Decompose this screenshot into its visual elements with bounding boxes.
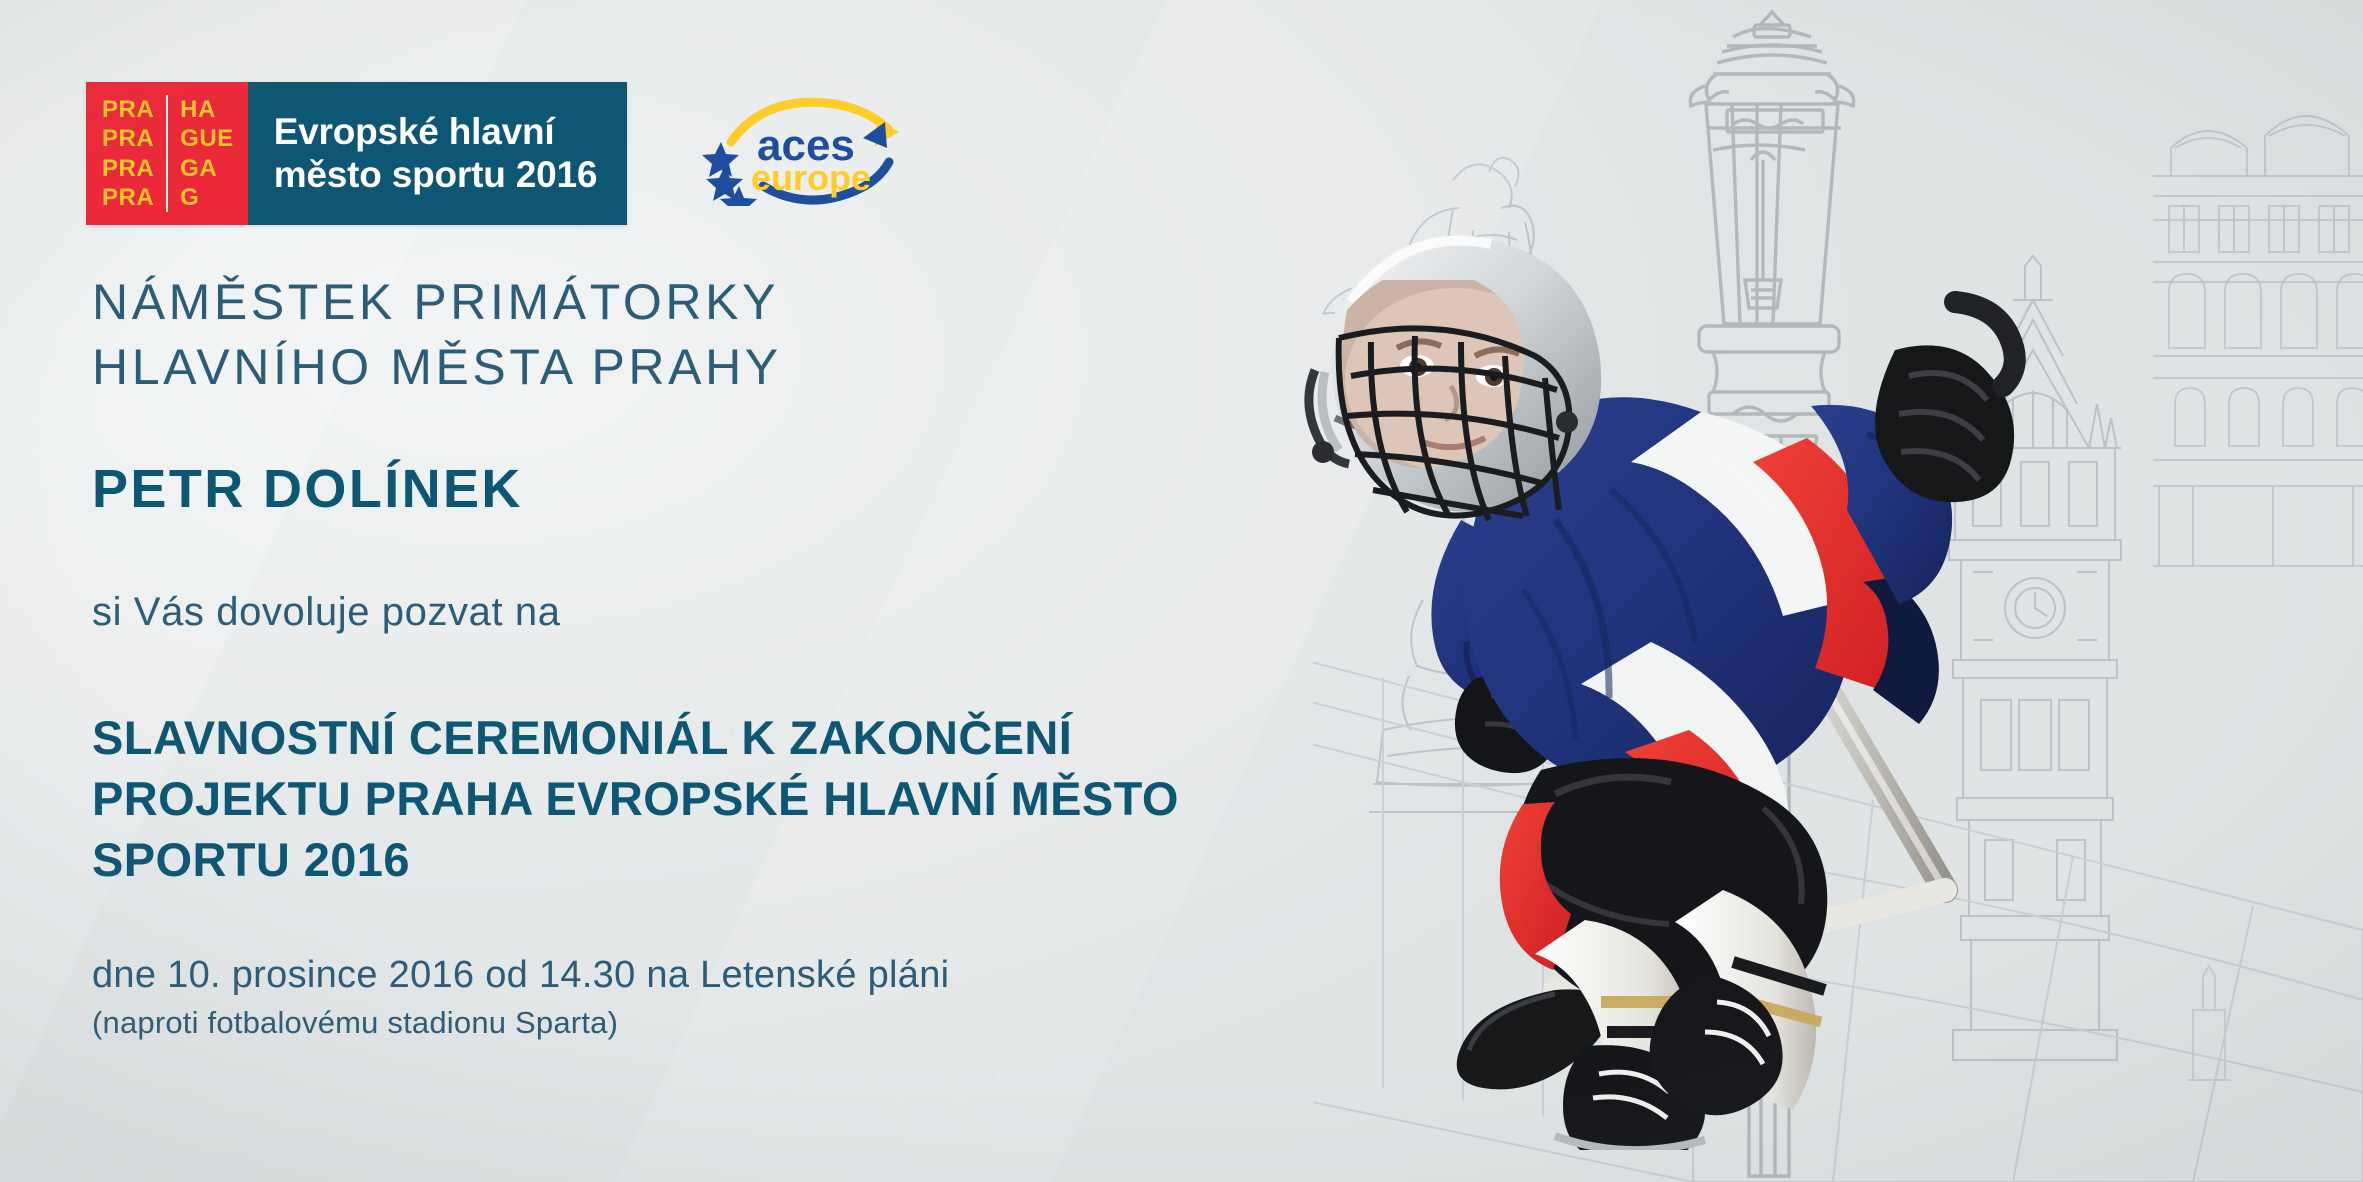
europe-word: europe (751, 157, 871, 198)
prague-col2-row1: HA (180, 95, 234, 124)
role-line-1: NÁMĚSTEK PRIMÁTORKY (92, 270, 1432, 335)
host-name: PETR DOLÍNEK (92, 458, 1432, 520)
prague-col1-row1: PRA (102, 95, 154, 124)
invitation-phrase: si Vás dovoluje pozvat na (92, 590, 1432, 635)
aces-stars (702, 142, 757, 206)
prague-col2-row2: GUE (180, 124, 234, 153)
ehms-banner-line2: město sportu 2016 (274, 154, 598, 197)
prague-wordmark-col-left: PRA PRA PRA PRA (102, 95, 168, 212)
role-line-2: HLAVNÍHO MĚSTA PRAHY (92, 335, 1432, 400)
role-heading: NÁMĚSTEK PRIMÁTORKY HLAVNÍHO MĚSTA PRAHY (92, 270, 1432, 400)
prague-col2-row4: G (180, 183, 234, 212)
event-title: SLAVNOSTNÍ CEREMONIÁL K ZAKONČENÍ PROJEK… (92, 707, 1432, 890)
ehms-banner: Evropské hlavní město sportu 2016 (248, 82, 628, 225)
logo-row: PRA PRA PRA PRA HA GUE GA G Evropské hla… (86, 82, 916, 225)
prague-ehms-logo: PRA PRA PRA PRA HA GUE GA G Evropské hla… (86, 82, 627, 225)
ehms-banner-line1: Evropské hlavní (274, 111, 598, 154)
event-datetime: dne 10. prosince 2016 od 14.30 na Letens… (92, 954, 1432, 997)
aces-europe-logo: aces europe (701, 86, 916, 206)
prague-col1-row4: PRA (102, 183, 154, 212)
event-title-line-3: SPORTU 2016 (92, 829, 1432, 890)
prague-col1-row3: PRA (102, 154, 154, 183)
event-venue-note: (naproti fotbalovému stadionu Sparta) (92, 1005, 1432, 1041)
prague-wordmark-col-right: HA GUE GA G (168, 95, 234, 212)
invitation-copy: NÁMĚSTEK PRIMÁTORKY HLAVNÍHO MĚSTA PRAHY… (92, 270, 1432, 1041)
event-title-line-2: PROJEKTU PRAHA EVROPSKÉ HLAVNÍ MĚSTO (92, 768, 1432, 829)
event-title-line-1: SLAVNOSTNÍ CEREMONIÁL K ZAKONČENÍ (92, 707, 1432, 768)
prague-col1-row2: PRA (102, 124, 154, 153)
aces-arrow-bottom (863, 122, 887, 148)
prague-col2-row3: GA (180, 154, 234, 183)
invitation-poster: PRA PRA PRA PRA HA GUE GA G Evropské hla… (0, 0, 2363, 1182)
prague-wordmark-block: PRA PRA PRA PRA HA GUE GA G (86, 82, 248, 225)
